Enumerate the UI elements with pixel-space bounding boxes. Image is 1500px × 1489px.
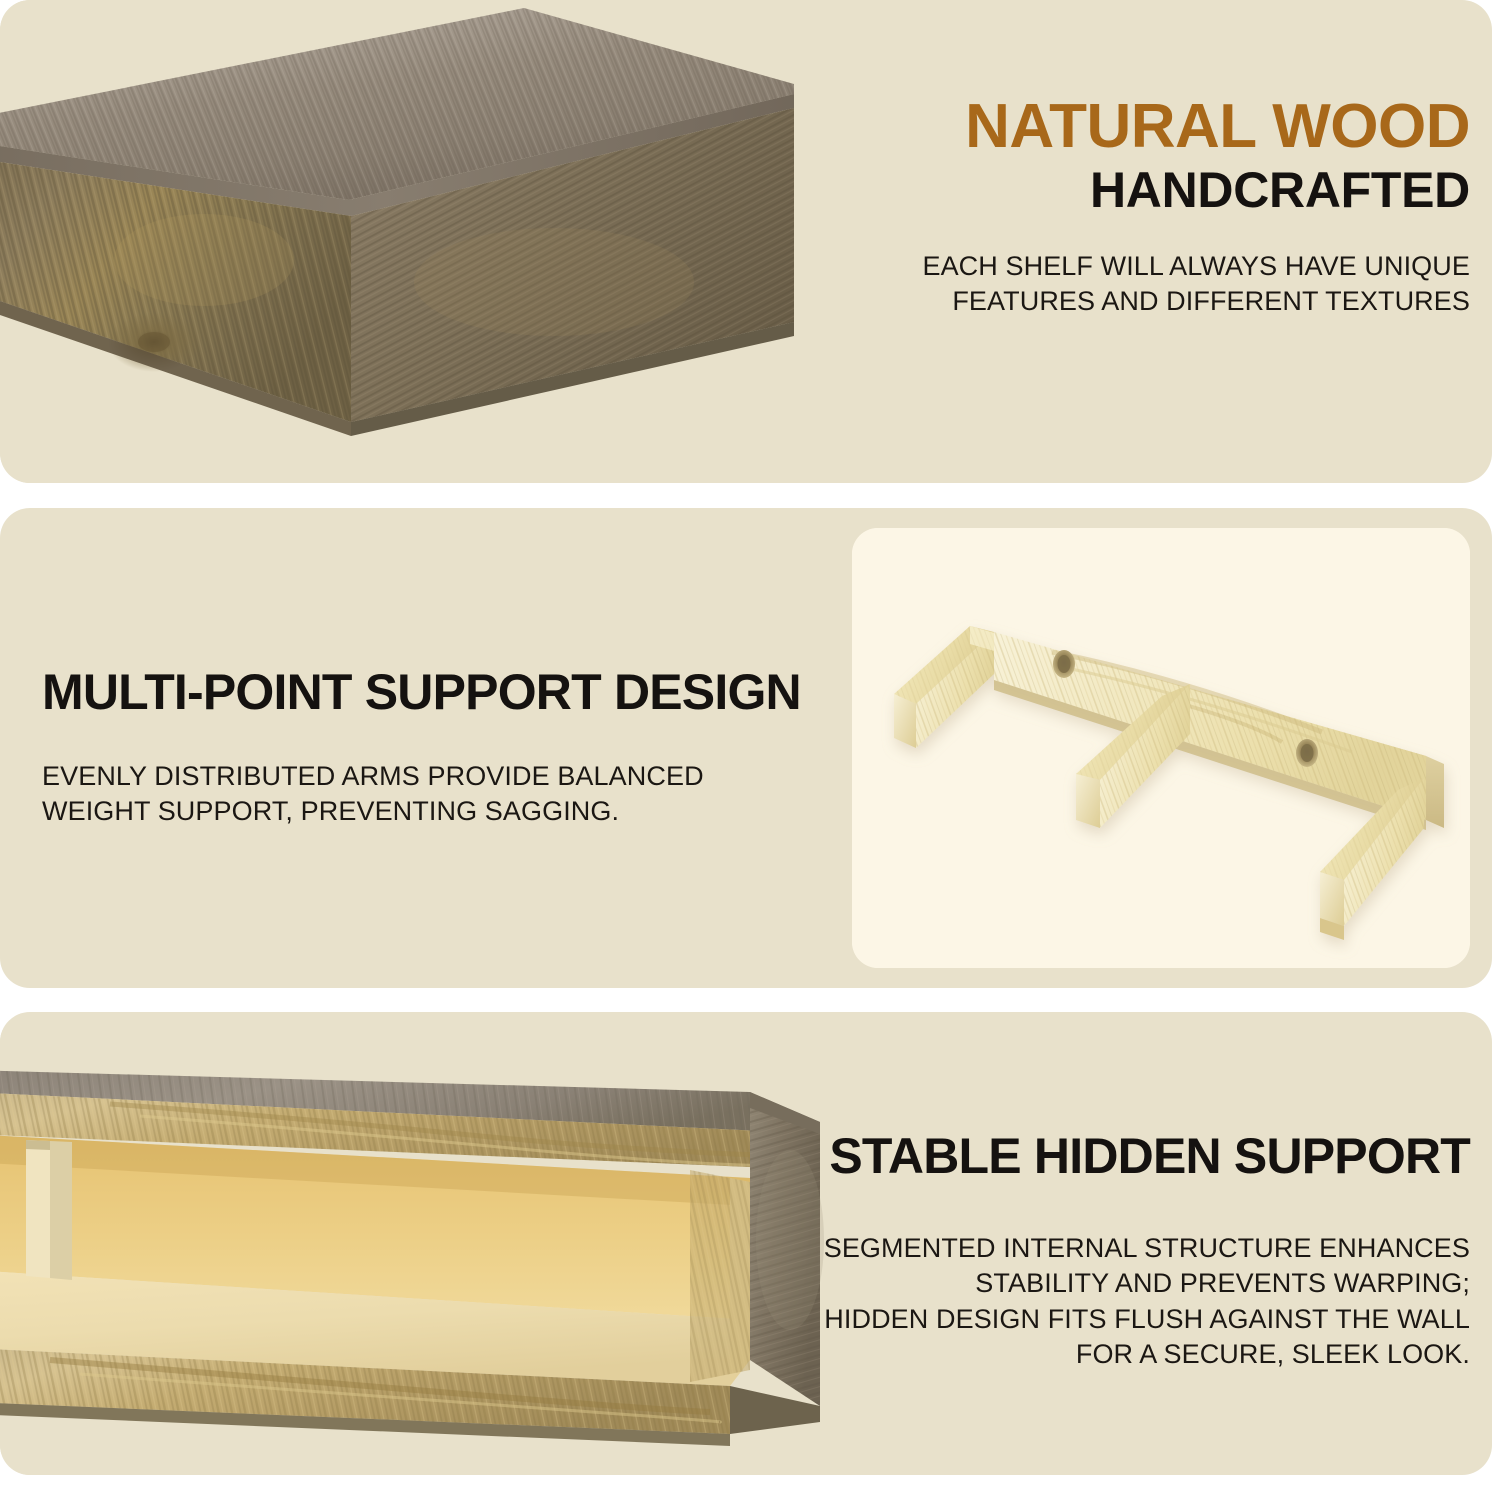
panel-3-body-copy: SEGMENTED INTERNAL STRUCTURE ENHANCES ST… — [810, 1231, 1470, 1374]
panel-3-body-line-2: STABILITY AND PREVENTS WARPING; — [810, 1266, 1470, 1302]
bracket-photo — [852, 528, 1470, 968]
feature-panel-natural-wood: NATURAL WOOD HANDCRAFTED EACH SHELF WILL… — [0, 0, 1492, 483]
panel-1-headline-accent: NATURAL WOOD — [750, 96, 1470, 158]
panel-3-body-line-4: FOR A SECURE, SLEEK LOOK. — [810, 1337, 1470, 1373]
feature-panel-stable-hidden-support: STABLE HIDDEN SUPPORT SEGMENTED INTERNAL… — [0, 1012, 1492, 1475]
panel-1-body-copy: EACH SHELF WILL ALWAYS HAVE UNIQUE FEATU… — [750, 249, 1470, 320]
shelf-block-photo — [0, 0, 834, 483]
panel-3-headline: STABLE HIDDEN SUPPORT — [810, 1130, 1470, 1183]
panel-1-body-line-2: FEATURES AND DIFFERENT TEXTURES — [750, 284, 1470, 320]
panel-1-body-line-1: EACH SHELF WILL ALWAYS HAVE UNIQUE — [750, 249, 1470, 285]
panel-3-body-line-3: HIDDEN DESIGN FITS FLUSH AGAINST THE WAL… — [810, 1302, 1470, 1338]
bracket-inset-card — [852, 528, 1470, 968]
panel-2-body-copy: EVENLY DISTRIBUTED ARMS PROVIDE BALANCED… — [42, 759, 802, 830]
panel-1-text-block: NATURAL WOOD HANDCRAFTED EACH SHELF WILL… — [750, 96, 1470, 320]
panel-2-text-block: MULTI-POINT SUPPORT DESIGN EVENLY DISTRI… — [42, 666, 802, 830]
panel-3-text-block: STABLE HIDDEN SUPPORT SEGMENTED INTERNAL… — [810, 1130, 1470, 1373]
panel-2-body-line-1: EVENLY DISTRIBUTED ARMS PROVIDE BALANCED — [42, 759, 802, 795]
hollow-shelf-photo — [0, 1030, 850, 1475]
feature-panel-multi-point-support: MULTI-POINT SUPPORT DESIGN EVENLY DISTRI… — [0, 508, 1492, 988]
panel-2-body-line-2: WEIGHT SUPPORT, PREVENTING SAGGING. — [42, 794, 802, 830]
panel-3-body-line-1: SEGMENTED INTERNAL STRUCTURE ENHANCES — [810, 1231, 1470, 1267]
panel-2-headline: MULTI-POINT SUPPORT DESIGN — [42, 666, 802, 719]
panel-1-headline-dark: HANDCRAFTED — [750, 164, 1470, 217]
infographic-page: NATURAL WOOD HANDCRAFTED EACH SHELF WILL… — [0, 0, 1500, 1489]
